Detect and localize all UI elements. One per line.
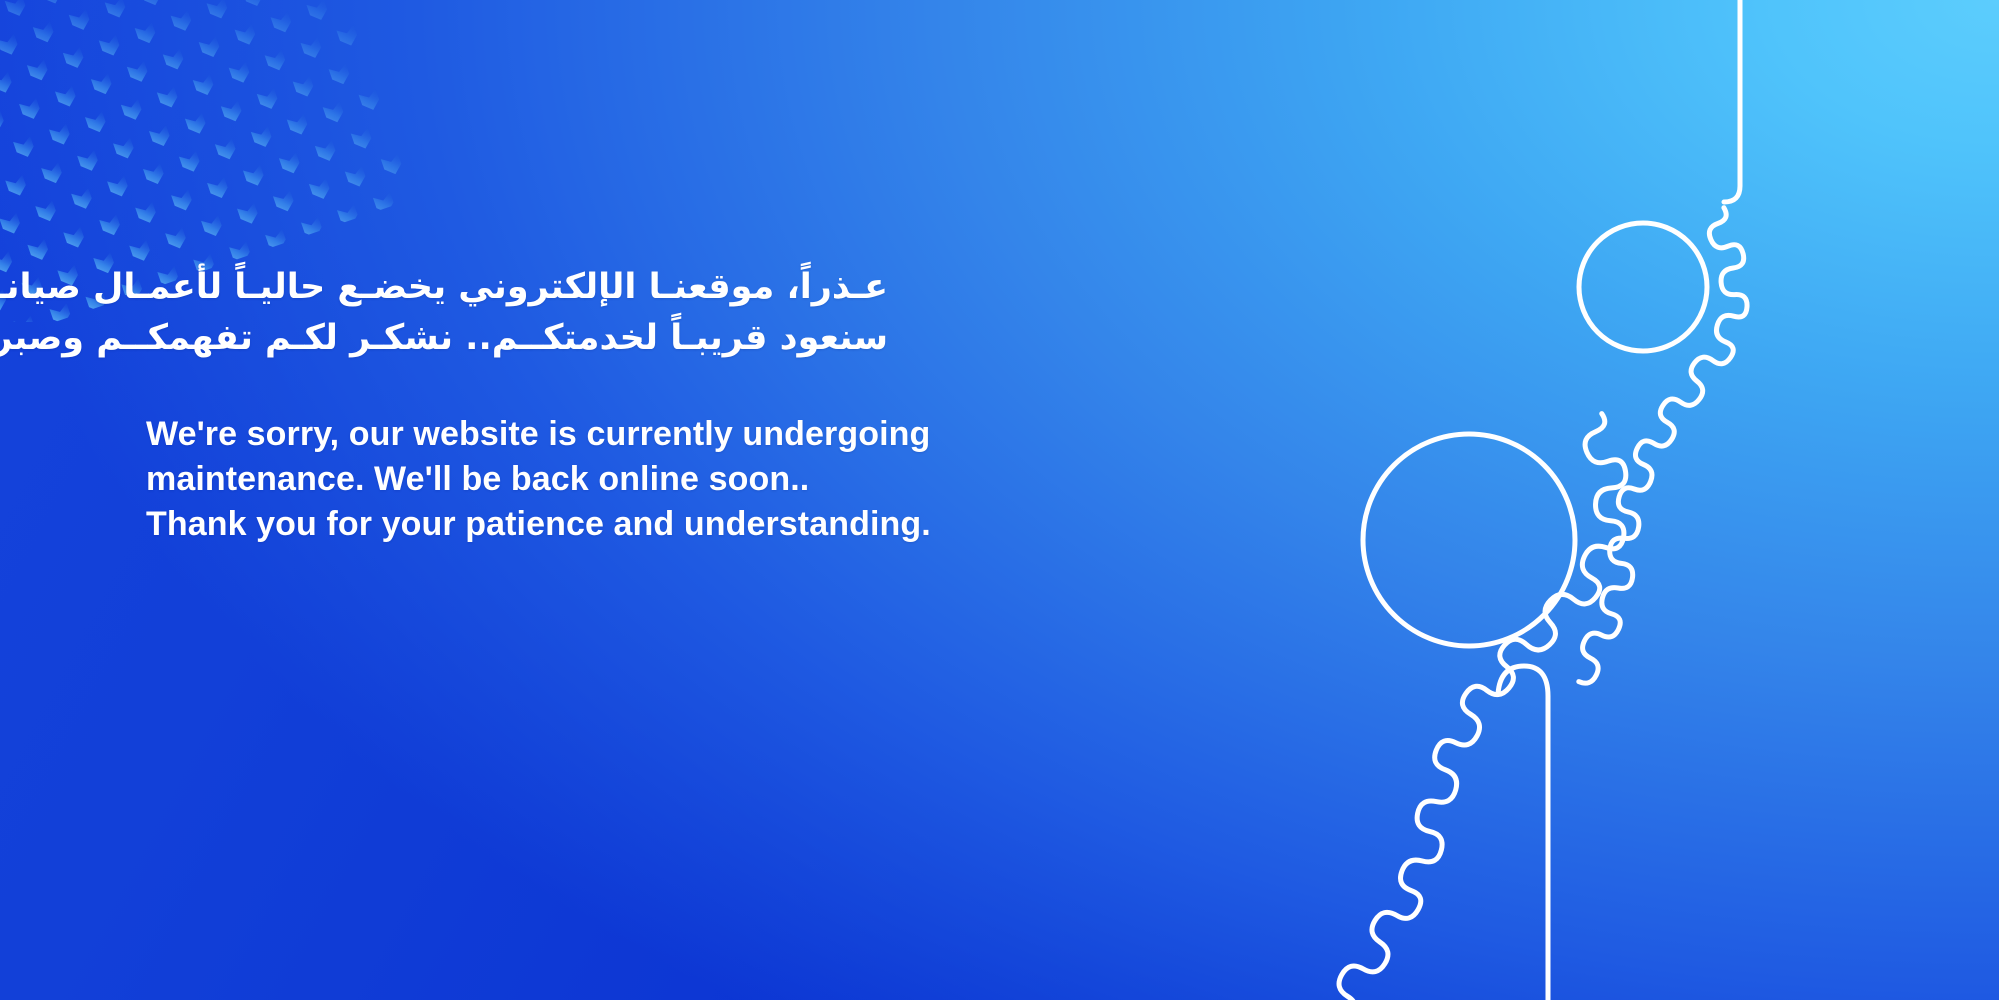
- bottom-connector-line: [1498, 666, 1548, 1000]
- english-message: We're sorry, our website is currently un…: [146, 365, 1126, 548]
- arabic-message: عـذراً، موقعنـا الإلكتروني يخضـع حاليـاً…: [146, 262, 888, 365]
- arabic-line-2: سنعود قريبـاً لخدمتكــم.. نشكـر لكـم تفه…: [146, 313, 888, 364]
- large-gear-hub: [1363, 434, 1575, 646]
- small-gear-hub: [1579, 223, 1707, 351]
- gear-artwork: [1099, 0, 1999, 1000]
- small-gear-icon: [1579, 208, 1747, 683]
- english-line-2: maintenance. We'll be back online soon..: [146, 457, 1126, 502]
- top-connector-line: [1724, 0, 1740, 202]
- arabic-line-1: عـذراً، موقعنـا الإلكتروني يخضـع حاليـاً…: [146, 262, 888, 313]
- english-line-1: We're sorry, our website is currently un…: [146, 412, 1126, 457]
- maintenance-page: عـذراً، موقعنـا الإلكتروني يخضـع حاليـاً…: [0, 0, 1999, 1000]
- message-block: عـذراً، موقعنـا الإلكتروني يخضـع حاليـاً…: [146, 262, 1126, 548]
- large-gear-icon: [1286, 389, 1636, 1000]
- english-line-3: Thank you for your patience and understa…: [146, 502, 1126, 547]
